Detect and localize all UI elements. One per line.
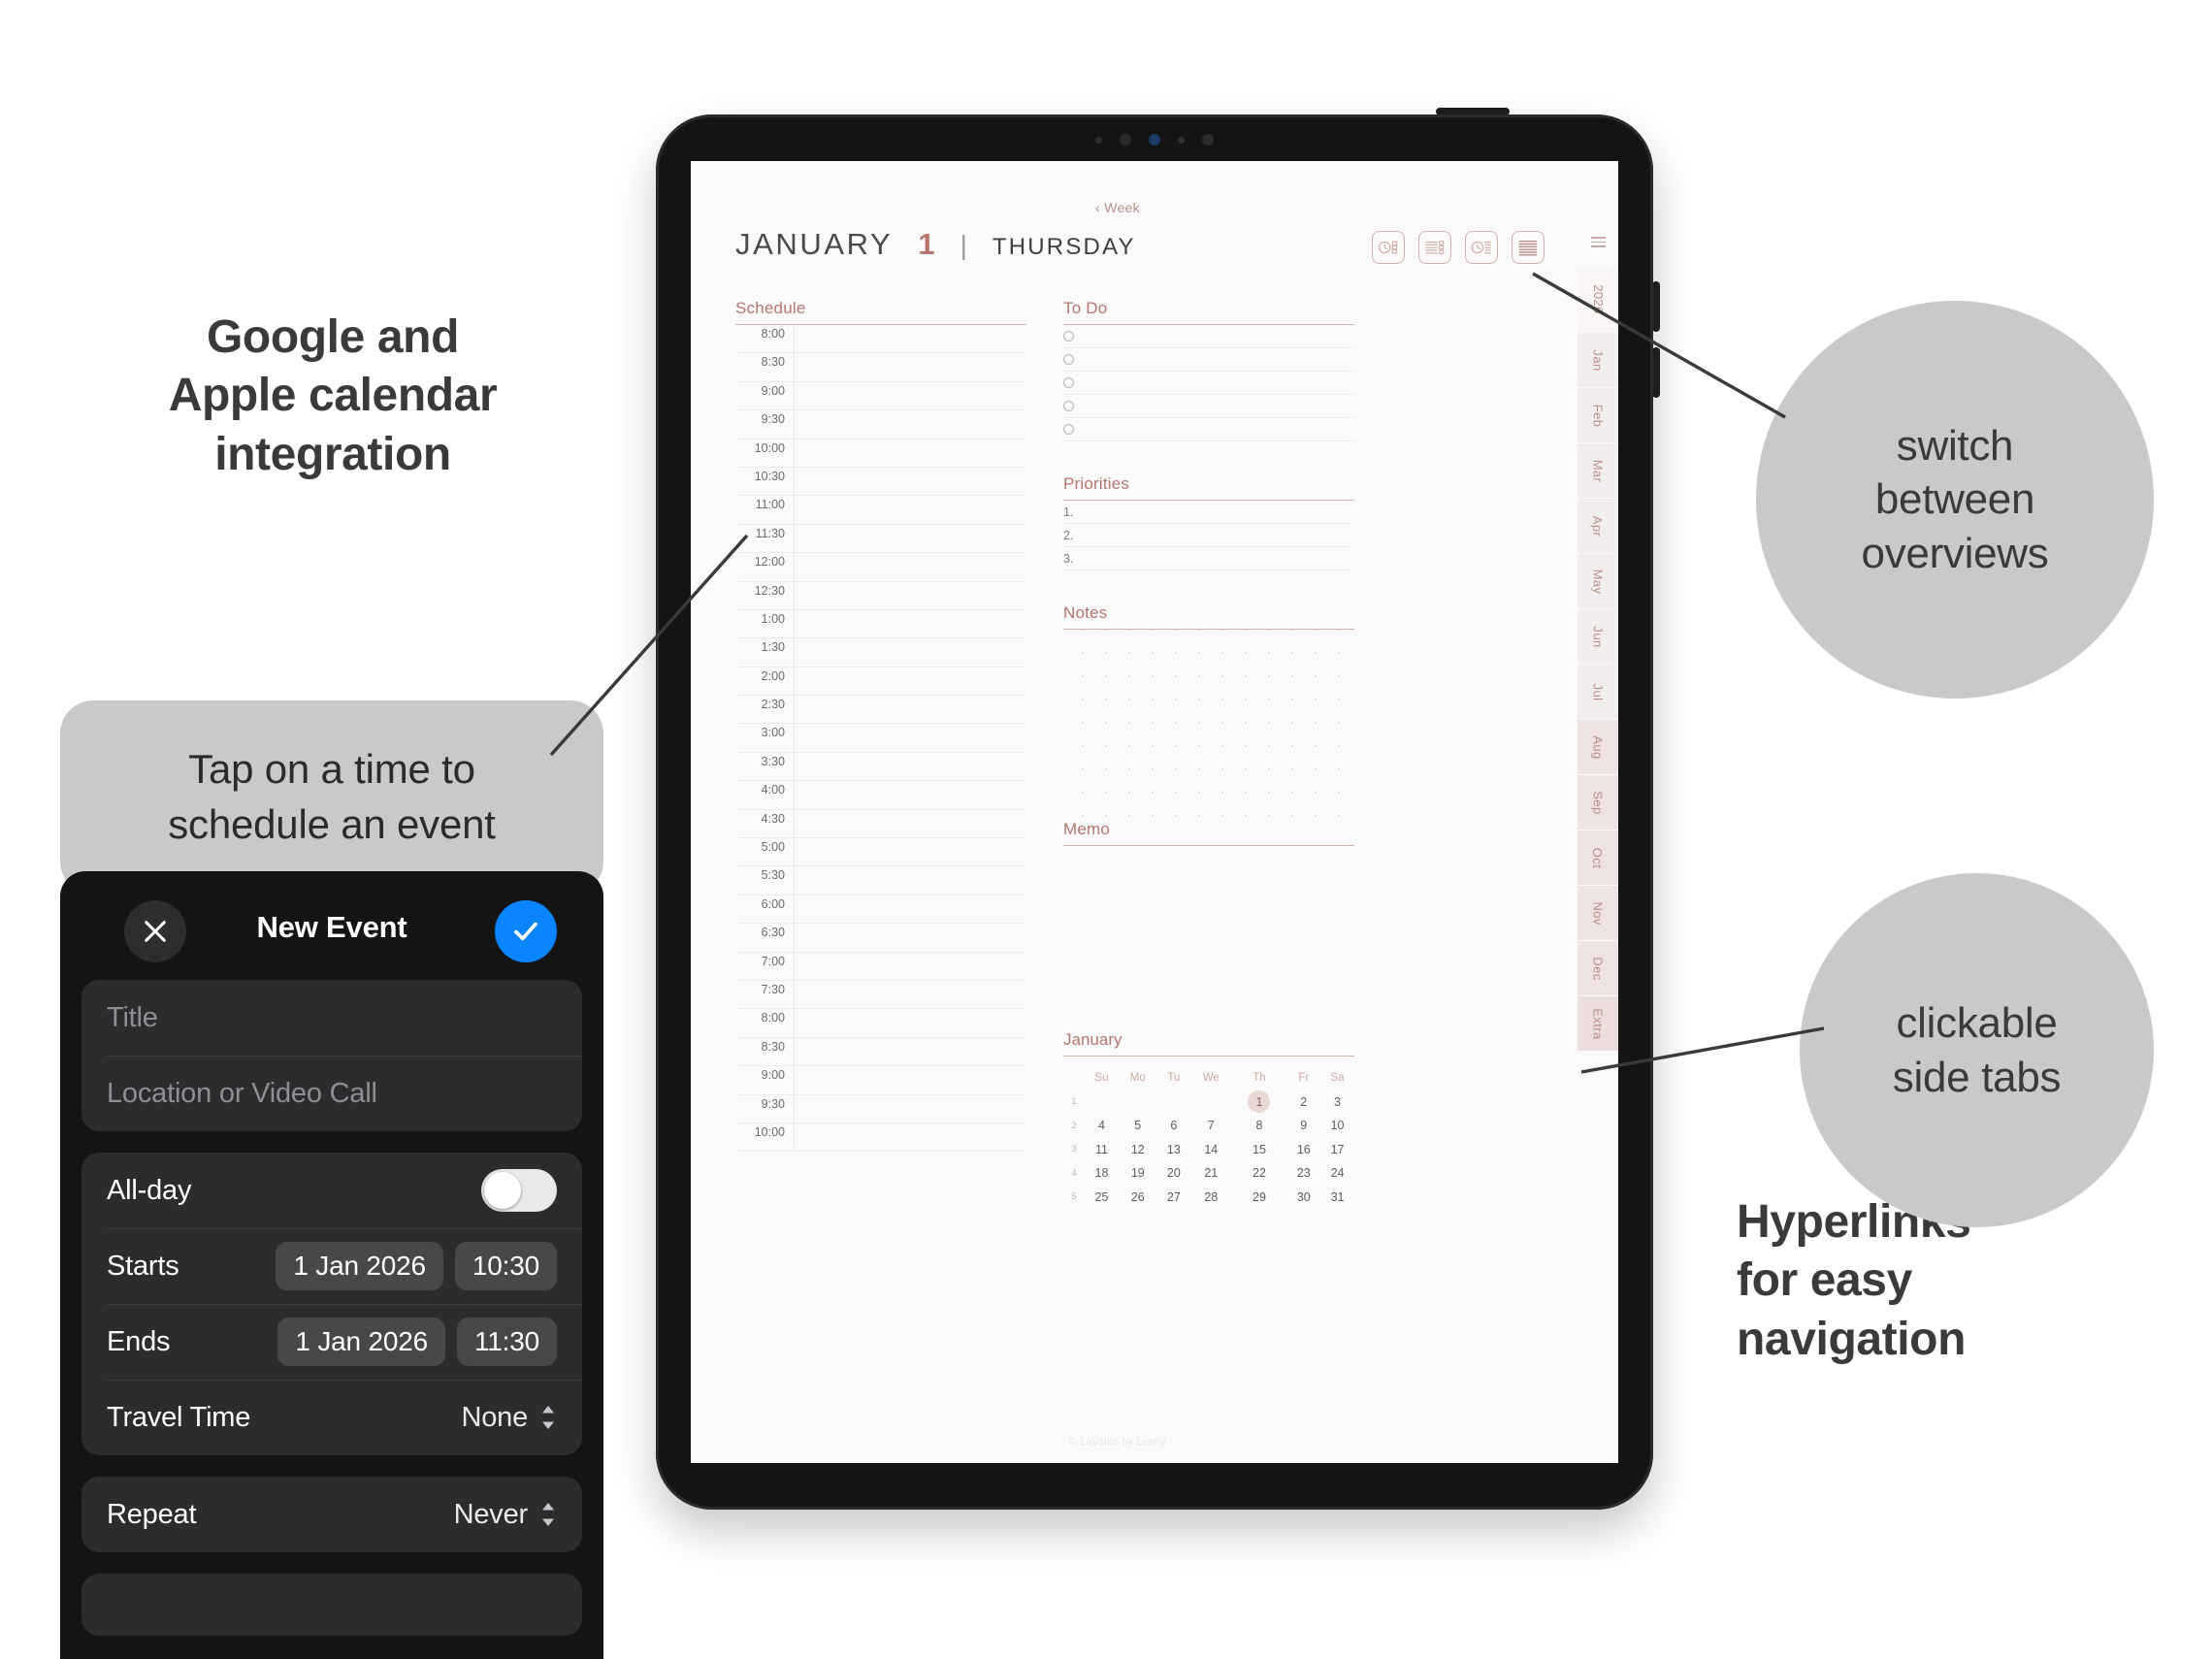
schedule-slot[interactable]: 5:00	[735, 838, 1026, 866]
schedule-slot-time: 3:30	[735, 753, 794, 768]
memo-area[interactable]	[1063, 846, 1354, 1021]
schedule-slot-writing-area[interactable]	[794, 866, 1026, 894]
schedule-slot-writing-area[interactable]	[794, 1066, 1026, 1093]
side-tab-label: Feb	[1590, 404, 1605, 427]
notes-section-title: Notes	[1063, 603, 1354, 629]
mini-calendar-empty-cell	[1157, 1090, 1191, 1115]
callout-google-apple-integration: Google and Apple calendar integration	[105, 309, 561, 484]
side-tab-2026[interactable]: 2026	[1578, 266, 1618, 332]
new-event-header: New Event	[60, 871, 603, 980]
schedule-slot-time: 10:00	[735, 1123, 794, 1139]
repeat-row[interactable]: Repeat Never	[81, 1477, 582, 1552]
mini-calendar-day-cell[interactable]: 8	[1231, 1114, 1286, 1138]
side-tab-mar[interactable]: Mar	[1578, 442, 1618, 498]
mini-calendar-body: 1123245678910311121314151617418192021222…	[1063, 1090, 1354, 1210]
callout-bubble-clickable-label: clickable side tabs	[1893, 996, 2061, 1104]
schedule-slot-writing-area[interactable]	[794, 582, 1026, 609]
schedule-slot[interactable]: 9:30	[735, 410, 1026, 439]
schedule-slot-time: 5:30	[735, 866, 794, 882]
todo-checkbox-icon[interactable]	[1063, 377, 1074, 388]
mini-calendar-empty-cell	[1085, 1090, 1119, 1115]
side-tabs-nav: 2026JanFebMarAprMayJunJulAugSepOctNovDec…	[1578, 161, 1618, 1463]
mini-calendar-day-cell[interactable]: 20	[1157, 1161, 1191, 1186]
mini-calendar-day-cell[interactable]: 11	[1085, 1138, 1119, 1162]
todo-item[interactable]	[1063, 395, 1354, 418]
camera-dot	[1202, 134, 1214, 146]
week-number-cell[interactable]: 3	[1063, 1138, 1085, 1162]
schedule-slot[interactable]: 1:30	[735, 638, 1026, 667]
side-tab-jun[interactable]: Jun	[1578, 608, 1618, 664]
schedule-section-title: Schedule	[735, 299, 1026, 324]
schedule-slot-time: 10:30	[735, 468, 794, 483]
mini-calendar-day-cell[interactable]: 14	[1190, 1138, 1231, 1162]
side-tab-jul[interactable]: Jul	[1578, 664, 1618, 719]
memo-section-title: Memo	[1063, 820, 1354, 845]
event-time-group: All-day Starts 1 Jan 2026 10:30 Ends 1 J…	[81, 1153, 582, 1455]
starts-row[interactable]: Starts 1 Jan 2026 10:30	[81, 1228, 582, 1304]
schedule-slot-time: 11:00	[735, 496, 794, 511]
volume-up-button[interactable]	[1652, 281, 1660, 332]
priority-item[interactable]: 3.	[1063, 547, 1354, 570]
schedule-slot[interactable]: 8:30	[735, 353, 1026, 381]
schedule-slot-time: 6:30	[735, 924, 794, 939]
planner-columns: Schedule 8:008:309:009:3010:0010:3011:00…	[735, 299, 1545, 1209]
side-tab-label: Jul	[1590, 683, 1605, 700]
mini-calendar-day-cell[interactable]: 21	[1190, 1161, 1231, 1186]
checklist-view-icon[interactable]	[1418, 231, 1451, 264]
repeat-value: Never	[454, 1499, 528, 1531]
clock-lines-view-icon[interactable]	[1465, 231, 1498, 264]
spacer	[1063, 570, 1354, 603]
schedule-slot-time: 9:00	[735, 382, 794, 398]
schedule-slot-time: 9:00	[735, 1066, 794, 1082]
schedule-slot-writing-area[interactable]	[794, 553, 1026, 580]
mini-calendar-day-cell[interactable]: 17	[1320, 1138, 1354, 1162]
location-field-row[interactable]: Location or Video Call	[81, 1056, 582, 1131]
ends-label: Ends	[107, 1326, 170, 1358]
schedule-slot-time: 4:00	[735, 781, 794, 797]
all-day-label: All-day	[107, 1175, 191, 1207]
mini-calendar-day-cell[interactable]: 1	[1231, 1090, 1286, 1115]
callout-bubble-switch-label: switch between overviews	[1862, 419, 2049, 580]
schedule-slot-time: 8:30	[735, 353, 794, 369]
schedule-slot-writing-area[interactable]	[794, 895, 1026, 923]
schedule-slot-writing-area[interactable]	[794, 753, 1026, 780]
weekday-header: Fr	[1287, 1066, 1321, 1090]
travel-time-label: Travel Time	[107, 1402, 250, 1434]
schedule-slot-writing-area[interactable]	[794, 696, 1026, 723]
schedule-slot[interactable]: 9:00	[735, 1066, 1026, 1094]
schedule-slot[interactable]: 8:00	[735, 325, 1026, 353]
planner-page: ‹ Week JANUARY 1 | THURSDAY	[691, 161, 1618, 1463]
schedule-slot[interactable]: 6:00	[735, 895, 1026, 924]
mini-calendar-day-cell[interactable]: 23	[1287, 1161, 1321, 1186]
spacer	[1063, 441, 1354, 474]
schedule-slot-time: 7:00	[735, 953, 794, 968]
mini-calendar-day-cell[interactable]: 25	[1085, 1186, 1119, 1210]
schedule-slot[interactable]: 10:00	[735, 1123, 1026, 1152]
schedule-slot-time: 1:30	[735, 638, 794, 654]
side-tab-label: Apr	[1591, 515, 1606, 536]
mini-calendar-day-cell[interactable]: 24	[1320, 1161, 1354, 1186]
mini-calendar-day-cell[interactable]: 29	[1231, 1186, 1286, 1210]
schedule-slot[interactable]: 7:00	[735, 953, 1026, 981]
schedule-slot[interactable]: 12:30	[735, 582, 1026, 610]
mini-calendar-empty-cell	[1190, 1090, 1231, 1115]
mini-calendar-day-cell[interactable]: 3	[1320, 1090, 1354, 1115]
all-day-toggle-knob	[484, 1172, 521, 1209]
weekday-header: Th	[1231, 1066, 1286, 1090]
callout-tap-on-time: Tap on a time to schedule an event	[60, 700, 603, 895]
todo-item[interactable]	[1063, 325, 1354, 348]
priorities-list: 1.2.3.	[1063, 501, 1354, 570]
travel-time-value: None	[461, 1402, 528, 1434]
week-back-link[interactable]: ‹ Week	[691, 200, 1545, 215]
side-tab-label: Aug	[1591, 735, 1606, 759]
mini-calendar-day-cell[interactable]: 7	[1190, 1114, 1231, 1138]
side-tab-extra[interactable]: Extra	[1578, 995, 1618, 1051]
schedule-slot-time: 9:30	[735, 410, 794, 426]
today-highlight: 1	[1248, 1090, 1270, 1113]
side-tab-label: Jan	[1590, 349, 1605, 371]
starts-time-pill[interactable]: 10:30	[455, 1242, 557, 1290]
side-tab-oct[interactable]: Oct	[1578, 829, 1618, 885]
todo-section-title: To Do	[1063, 299, 1354, 324]
header-separator: |	[960, 230, 967, 261]
side-tab-feb[interactable]: Feb	[1578, 387, 1618, 442]
mini-calendar-day-cell[interactable]: 16	[1287, 1138, 1321, 1162]
weekday-header: Mo	[1119, 1066, 1157, 1090]
schedule-slot[interactable]: 4:30	[735, 810, 1026, 838]
all-day-row[interactable]: All-day	[81, 1153, 582, 1228]
starts-date-pill[interactable]: 1 Jan 2026	[276, 1242, 443, 1290]
side-tab-label: Oct	[1591, 847, 1606, 867]
schedule-slot-writing-area[interactable]	[794, 439, 1026, 467]
schedule-slot-writing-area[interactable]	[794, 325, 1026, 352]
schedule-slot-writing-area[interactable]	[794, 525, 1026, 552]
weekday-header: Su	[1085, 1066, 1119, 1090]
mini-calendar-day-cell[interactable]: 4	[1085, 1114, 1119, 1138]
schedule-slot-writing-area[interactable]	[794, 1009, 1026, 1036]
mini-calendar-day-cell[interactable]: 22	[1231, 1161, 1286, 1186]
schedule-slot-time: 2:30	[735, 696, 794, 711]
mini-calendar: January SuMoTuWeThFrSa 11232456789103111…	[1063, 1030, 1354, 1209]
priorities-section-title: Priorities	[1063, 474, 1354, 500]
repeat-label: Repeat	[107, 1499, 196, 1531]
schedule-slot-writing-area[interactable]	[794, 810, 1026, 837]
side-tab-label: Mar	[1591, 459, 1606, 482]
title-input-placeholder: Title	[107, 1002, 158, 1034]
side-tab-jan[interactable]: Jan	[1578, 332, 1618, 387]
mini-calendar-day-cell[interactable]: 27	[1157, 1186, 1191, 1210]
planner-footer-credit: © Layouts by Lenny	[691, 1436, 1545, 1448]
page-weekday-label: THURSDAY	[992, 234, 1136, 261]
side-tab-sep[interactable]: Sep	[1578, 774, 1618, 829]
schedule-slot[interactable]: 10:30	[735, 468, 1026, 496]
schedule-slot[interactable]: 11:30	[735, 525, 1026, 553]
location-input-placeholder: Location or Video Call	[107, 1078, 377, 1110]
camera-cluster	[1095, 134, 1214, 146]
schedule-slot-writing-area[interactable]	[794, 610, 1026, 637]
schedule-slot-time: 6:00	[735, 895, 794, 911]
schedule-slot[interactable]: 4:00	[735, 781, 1026, 809]
mini-calendar-day-cell[interactable]: 5	[1119, 1114, 1157, 1138]
sensor-dot	[1095, 137, 1102, 144]
mini-calendar-day-cell[interactable]: 18	[1085, 1161, 1119, 1186]
schedule-slot[interactable]: 2:00	[735, 667, 1026, 696]
schedule-slot-writing-area[interactable]	[794, 410, 1026, 438]
schedule-slot-writing-area[interactable]	[794, 981, 1026, 1008]
chevron-updown-icon	[539, 1403, 557, 1432]
mini-calendar-title: January	[1063, 1030, 1354, 1056]
schedule-slot[interactable]: 1:00	[735, 610, 1026, 638]
sensor-dot	[1178, 137, 1185, 144]
side-tab-label: Sep	[1591, 791, 1606, 814]
priority-number: 3.	[1063, 552, 1073, 566]
mini-calendar-day-cell[interactable]: 26	[1119, 1186, 1157, 1210]
mini-calendar-week-row: 311121314151617	[1063, 1138, 1354, 1162]
mini-calendar-week-row: 1123	[1063, 1090, 1354, 1115]
schedule-slot[interactable]: 2:30	[735, 696, 1026, 724]
mini-calendar-day-cell[interactable]: 19	[1119, 1161, 1157, 1186]
schedule-slot-time: 11:30	[735, 525, 794, 540]
schedule-slot-time: 7:30	[735, 981, 794, 996]
schedule-slot-writing-area[interactable]	[794, 924, 1026, 951]
mini-calendar-day-cell[interactable]: 30	[1287, 1186, 1321, 1210]
camera-lens-dot	[1149, 134, 1160, 146]
todo-item[interactable]	[1063, 418, 1354, 441]
schedule-slot-time: 12:30	[735, 582, 794, 598]
schedule-slot-writing-area[interactable]	[794, 1038, 1026, 1065]
todo-item[interactable]	[1063, 372, 1354, 395]
chevron-updown-icon	[539, 1500, 557, 1529]
mini-calendar-header-row: SuMoTuWeThFrSa	[1063, 1066, 1354, 1090]
schedule-column: Schedule 8:008:309:009:3010:0010:3011:00…	[735, 299, 1026, 1209]
callout-bubble-switch-overviews: switch between overviews	[1756, 301, 2154, 699]
side-tab-may[interactable]: May	[1578, 553, 1618, 608]
schedule-slot[interactable]: 7:30	[735, 981, 1026, 1009]
todo-list	[1063, 325, 1354, 441]
ends-time-pill[interactable]: 11:30	[457, 1317, 557, 1366]
all-day-toggle[interactable]	[481, 1169, 557, 1212]
schedule-slot[interactable]: 6:30	[735, 924, 1026, 952]
week-number-cell[interactable]: 4	[1063, 1161, 1085, 1186]
schedule-slot-writing-area[interactable]	[794, 1123, 1026, 1151]
schedule-slot-time: 8:00	[735, 1009, 794, 1025]
mini-calendar-day-cell[interactable]: 28	[1190, 1186, 1231, 1210]
side-tab-aug[interactable]: Aug	[1578, 719, 1618, 774]
todo-checkbox-icon[interactable]	[1063, 331, 1074, 342]
schedule-slot-writing-area[interactable]	[794, 838, 1026, 865]
schedule-slot-writing-area[interactable]	[794, 468, 1026, 495]
hamburger-menu-icon[interactable]	[1578, 217, 1618, 266]
schedule-slot-time: 9:30	[735, 1095, 794, 1111]
side-tab-label: May	[1590, 569, 1605, 594]
event-extra-group	[81, 1574, 582, 1636]
schedule-slot-time: 4:30	[735, 810, 794, 826]
weekday-header: We	[1190, 1066, 1231, 1090]
schedule-slot-writing-area[interactable]	[794, 496, 1026, 523]
todo-checkbox-icon[interactable]	[1063, 354, 1074, 365]
ipad-device: ‹ Week JANUARY 1 | THURSDAY	[656, 114, 1653, 1510]
clock-boxes-view-icon[interactable]	[1372, 231, 1405, 264]
schedule-slot-writing-area[interactable]	[794, 667, 1026, 695]
schedule-slot-time: 5:00	[735, 838, 794, 854]
week-number-cell[interactable]: 2	[1063, 1114, 1085, 1138]
weekday-header: Tu	[1157, 1066, 1191, 1090]
schedule-slot-time: 2:00	[735, 667, 794, 683]
checkmark-icon	[510, 916, 541, 947]
ipad-screen: ‹ Week JANUARY 1 | THURSDAY	[691, 161, 1618, 1463]
side-tab-label: Dec	[1590, 957, 1605, 980]
ends-row[interactable]: Ends 1 Jan 2026 11:30	[81, 1304, 582, 1380]
mini-calendar-day-cell[interactable]: 10	[1320, 1114, 1354, 1138]
mini-calendar-day-cell[interactable]: 15	[1231, 1138, 1286, 1162]
starts-label: Starts	[107, 1251, 179, 1283]
schedule-slot[interactable]: 3:00	[735, 724, 1026, 752]
mini-calendar-day-cell[interactable]: 9	[1287, 1114, 1321, 1138]
page-month-label: JANUARY	[735, 227, 893, 262]
todo-checkbox-icon[interactable]	[1063, 401, 1074, 411]
schedule-slot-time: 1:00	[735, 610, 794, 626]
callout-tap-on-time-label: Tap on a time to schedule an event	[168, 742, 496, 852]
side-tab-label: Nov	[1590, 901, 1605, 925]
title-field-row[interactable]: Title	[81, 980, 582, 1056]
side-tab-nov[interactable]: Nov	[1578, 885, 1618, 940]
travel-time-row[interactable]: Travel Time None	[81, 1380, 582, 1455]
side-tab-label: Extra	[1591, 1008, 1606, 1039]
mini-calendar-day-cell[interactable]: 31	[1320, 1186, 1354, 1210]
todo-item[interactable]	[1063, 348, 1354, 372]
ends-date-pill[interactable]: 1 Jan 2026	[277, 1317, 445, 1366]
right-column: To Do Priorities 1.2.3. Notes Memo	[1063, 299, 1354, 1209]
side-tab-label: Jun	[1590, 626, 1605, 647]
lines-view-icon[interactable]	[1512, 231, 1545, 264]
schedule-slot[interactable]: 8:00	[735, 1009, 1026, 1037]
mini-calendar-day-cell[interactable]: 12	[1119, 1138, 1157, 1162]
priority-item[interactable]: 2.	[1063, 524, 1354, 547]
side-tab-label: 2026	[1591, 284, 1606, 314]
schedule-slot[interactable]: 12:00	[735, 553, 1026, 581]
view-switcher-toolbar	[1372, 231, 1545, 264]
week-number-header	[1063, 1066, 1085, 1090]
schedule-slot-writing-area[interactable]	[794, 353, 1026, 380]
schedule-slot-writing-area[interactable]	[794, 1095, 1026, 1122]
schedule-slot[interactable]: 8:30	[735, 1038, 1026, 1066]
schedule-slot[interactable]: 10:00	[735, 439, 1026, 468]
weekday-header: Sa	[1320, 1066, 1354, 1090]
schedule-slot[interactable]: 3:30	[735, 753, 1026, 781]
notes-dot-grid[interactable]	[1063, 630, 1354, 820]
priority-number: 1.	[1063, 505, 1073, 519]
camera-dot	[1120, 134, 1131, 146]
callout-bubble-clickable-tabs: clickable side tabs	[1800, 873, 2154, 1227]
new-event-sheet: New Event Title Location or Video Call A…	[60, 871, 603, 1659]
mini-calendar-week-row: 418192021222324	[1063, 1161, 1354, 1186]
side-tab-apr[interactable]: Apr	[1578, 498, 1618, 553]
schedule-slot-writing-area[interactable]	[794, 638, 1026, 666]
schedule-slot[interactable]: 5:30	[735, 866, 1026, 895]
event-basic-group: Title Location or Video Call	[81, 980, 582, 1131]
schedule-grid: 8:008:309:009:3010:0010:3011:0011:3012:0…	[735, 325, 1026, 1152]
priority-item[interactable]: 1.	[1063, 501, 1354, 524]
week-number-cell[interactable]: 5	[1063, 1186, 1085, 1210]
done-button[interactable]	[495, 900, 557, 962]
side-tab-dec[interactable]: Dec	[1578, 940, 1618, 995]
schedule-slot[interactable]: 11:00	[735, 496, 1026, 524]
week-number-cell[interactable]: 1	[1063, 1090, 1085, 1115]
planner-main-area: ‹ Week JANUARY 1 | THURSDAY	[691, 161, 1578, 1463]
schedule-slot-time: 8:00	[735, 325, 794, 341]
mini-calendar-table: SuMoTuWeThFrSa 1123245678910311121314151…	[1063, 1066, 1354, 1209]
schedule-slot-time: 3:00	[735, 724, 794, 739]
mini-calendar-day-cell[interactable]: 6	[1157, 1114, 1191, 1138]
schedule-slot-time: 10:00	[735, 439, 794, 455]
mini-calendar-day-cell[interactable]: 2	[1287, 1090, 1321, 1115]
mini-calendar-week-row: 525262728293031	[1063, 1186, 1354, 1210]
schedule-slot-time: 12:00	[735, 553, 794, 569]
volume-down-button[interactable]	[1652, 347, 1660, 398]
mini-calendar-day-cell[interactable]: 13	[1157, 1138, 1191, 1162]
mini-calendar-week-row: 245678910	[1063, 1114, 1354, 1138]
schedule-slot-time: 8:30	[735, 1038, 794, 1054]
schedule-slot-writing-area[interactable]	[794, 724, 1026, 751]
schedule-slot-writing-area[interactable]	[794, 382, 1026, 409]
schedule-slot[interactable]: 9:00	[735, 382, 1026, 410]
power-button[interactable]	[1436, 108, 1510, 115]
todo-checkbox-icon[interactable]	[1063, 424, 1074, 435]
schedule-slot[interactable]: 9:30	[735, 1095, 1026, 1123]
priority-number: 2.	[1063, 529, 1073, 542]
page-day-number: 1	[918, 227, 934, 262]
section-divider	[1063, 1056, 1354, 1057]
schedule-slot-writing-area[interactable]	[794, 781, 1026, 808]
mini-calendar-empty-cell	[1119, 1090, 1157, 1115]
schedule-slot-writing-area[interactable]	[794, 953, 1026, 980]
event-repeat-group: Repeat Never	[81, 1477, 582, 1552]
